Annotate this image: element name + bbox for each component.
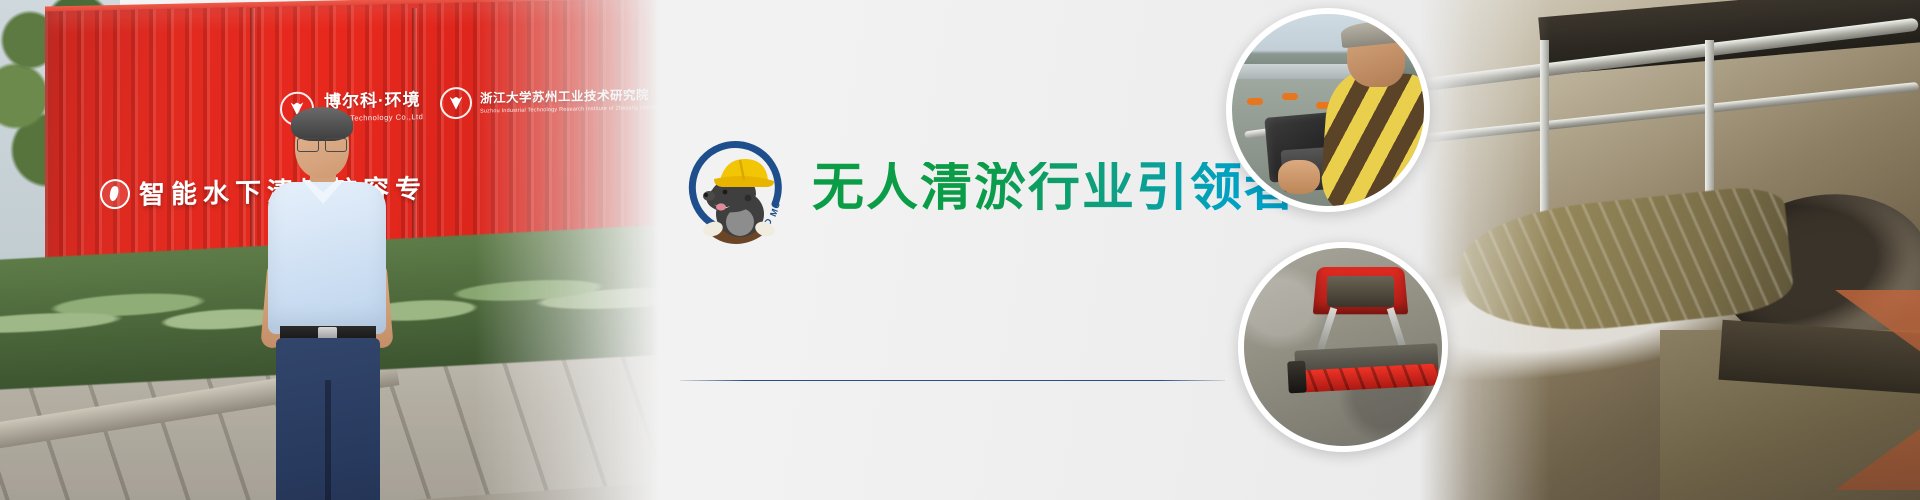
mud-mole-logo-icon: MUD MOLE <box>680 132 792 244</box>
slogan-badge-icon <box>100 178 130 209</box>
mud-mole-logo: MUD MOLE <box>680 132 792 244</box>
robot-machinery <box>1327 276 1394 308</box>
institute-brand: 浙江大学苏州工业技术研究院 Suzhou Industrial Technolo… <box>440 78 660 125</box>
right-photo-group <box>1190 0 1920 500</box>
man-hair <box>291 107 353 141</box>
man-glasses <box>295 138 349 151</box>
brand-name-cn: 博尔科·环境 <box>324 90 421 111</box>
robot-auger-drive <box>1287 360 1306 393</box>
left-container-photo: 博尔科·环境 BOLP. Technology Co.,Ltd 浙江大学苏州工业… <box>0 0 660 500</box>
float-marker <box>1282 93 1298 100</box>
dredge-robot-photo <box>1238 242 1448 452</box>
hero-banner: 博尔科·环境 BOLP. Technology Co.,Ltd 浙江大学苏州工业… <box>0 0 1920 500</box>
center-content: MUD MOLE <box>660 0 1260 500</box>
institute-name-cn: 浙江大学苏州工业技术研究院 <box>480 88 649 106</box>
operator-console-photo <box>1226 8 1430 212</box>
man-shirt <box>268 182 386 334</box>
float-marker <box>1247 98 1263 105</box>
handrail-lower <box>1421 82 1919 143</box>
institute-text: 浙江大学苏州工业技术研究院 Suzhou Industrial Technolo… <box>480 86 660 114</box>
title-divider <box>680 380 1225 381</box>
sludge-discharge-photo <box>1420 0 1920 500</box>
headline-row: MUD MOLE <box>680 132 1240 244</box>
man-portrait <box>262 112 392 500</box>
operator-striped-shirt <box>1319 68 1430 212</box>
institute-mark-icon <box>440 87 472 120</box>
man-jeans <box>276 338 380 500</box>
institute-name-en: Suzhou Industrial Technology Research In… <box>480 105 660 114</box>
operator-hand <box>1278 160 1320 195</box>
headline-block: MUD MOLE <box>680 132 1240 244</box>
